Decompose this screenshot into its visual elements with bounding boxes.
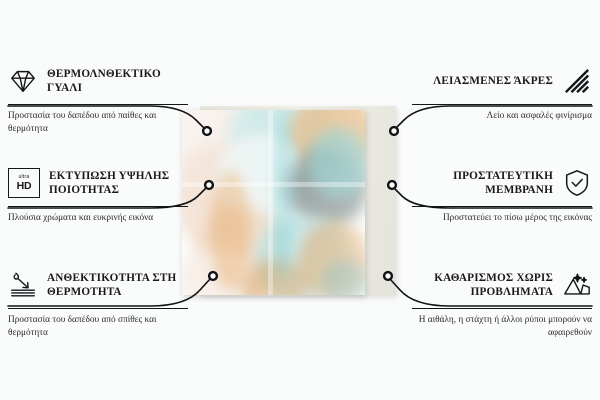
marble-ink-artwork [182, 110, 365, 295]
feature-title: ΛΕΙΑΣΜΕΝΕΣ ΆΚΡΕΣ [433, 74, 553, 88]
shield-check-icon [562, 168, 592, 198]
flame-deflect-icon [8, 270, 38, 300]
feature-high-quality-print: ultraHD ΕΚΤΥΠΩΣΗ ΥΨΗΛΗΣ ΠΟΙΟΤΗΤΑΣ Πλούσι… [8, 164, 188, 225]
feature-title: ΕΚΤΥΠΩΣΗ ΥΨΗΛΗΣ ΠΟΙΟΤΗΤΑΣ [49, 169, 188, 198]
feature-polished-edges: ΛΕΙΑΣΜΕΝΕΣ ΆΚΡΕΣ Λείο και ασφαλές φινίρι… [412, 62, 592, 123]
hatched-triangle-icon [562, 66, 592, 96]
feature-description: Προστασία του δαπέδου από σπίθες και θερ… [8, 314, 188, 340]
feature-description: Η αιθάλη, η στάχτη ή άλλοι ρύποι μπορούν… [412, 314, 592, 340]
feature-title: ΠΡΟΣΤΑΤΕΥΤΙΚΗ ΜΕΜΒΡΑΝΗ [412, 169, 553, 198]
feature-description: Προστασία του δαπέδου από παίθες και θερ… [8, 110, 188, 136]
product-panel-front [182, 110, 365, 295]
feature-heat-durability: ΑΝΘΕΚΤΙΚΟΤΗΤΑ ΣΤΗ ΘΕΡΜΟΤΗΤΑ Προστασία το… [8, 266, 188, 340]
divider [8, 104, 188, 105]
feature-heat-resistant-glass: ΘΕΡΜΟΛΝΘΕΚΤΙΚΟ ΓΥΑΛΙ Προστασία του δαπέδ… [8, 62, 188, 136]
ultra-hd-icon: ultraHD [8, 168, 40, 198]
feature-title: ΘΕΡΜΟΛΝΘΕΚΤΙΚΟ ΓΥΑΛΙ [47, 67, 188, 96]
divider [8, 206, 188, 207]
feature-description: Πλούσια χρώματα και ευκρινής εικόνα [8, 212, 188, 225]
divider [412, 104, 592, 105]
divider [412, 308, 592, 309]
feature-protective-membrane: ΠΡΟΣΤΑΤΕΥΤΙΚΗ ΜΕΜΒΡΑΝΗ Προστατεύει το πί… [412, 164, 592, 225]
diamond-icon [8, 66, 38, 96]
sparkle-wipe-icon [562, 270, 592, 300]
feature-title: ΑΝΘΕΚΤΙΚΟΤΗΤΑ ΣΤΗ ΘΕΡΜΟΤΗΤΑ [47, 271, 188, 300]
feature-description: Προστατεύει το πίσω μέρος της εικόνας [412, 212, 592, 225]
divider [8, 308, 188, 309]
feature-title: ΚΑΘΑΡΙΣΜΟΣ ΧΩΡΙΣ ΠΡΟΒΛΗΜΑΤΑ [412, 271, 553, 300]
infographic-canvas: ΘΕΡΜΟΛΝΘΕΚΤΙΚΟ ΓΥΑΛΙ Προστασία του δαπέδ… [0, 0, 600, 400]
divider [412, 206, 592, 207]
feature-description: Λείο και ασφαλές φινίρισμα [412, 110, 592, 123]
product-image [182, 110, 387, 300]
feature-easy-cleaning: ΚΑΘΑΡΙΣΜΟΣ ΧΩΡΙΣ ΠΡΟΒΛΗΜΑΤΑ Η αιθάλη, η … [412, 266, 592, 340]
